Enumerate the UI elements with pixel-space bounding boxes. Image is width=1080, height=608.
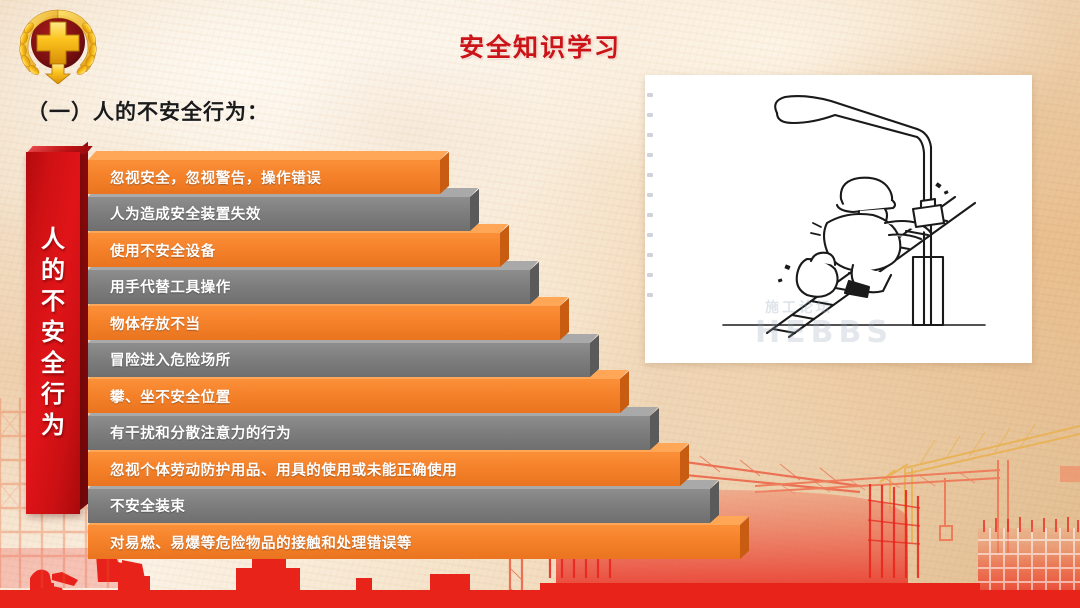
bar-face: 冒险进入危险场所 <box>88 343 590 377</box>
bar-face: 使用不安全设备 <box>88 233 500 267</box>
bar-label: 对易燃、易爆等危险物品的接触和处理错误等 <box>88 532 412 553</box>
bar-label: 有干扰和分散注意力的行为 <box>88 422 291 443</box>
bar-label: 攀、坐不安全位置 <box>88 386 231 407</box>
bar-label: 用手代替工具操作 <box>88 276 231 297</box>
staircase-bar[interactable]: 物体存放不当 <box>88 306 560 340</box>
page-title: 安全知识学习 <box>0 28 1080 64</box>
banner-char: 的 <box>41 259 65 283</box>
vertical-banner-text: 人 的 不 安 全 行 为 <box>26 152 80 514</box>
staircase-bar[interactable]: 使用不安全设备 <box>88 233 500 267</box>
bar-face: 物体存放不当 <box>88 306 560 340</box>
staircase-bar[interactable]: 对易燃、易爆等危险物品的接触和处理错误等 <box>88 525 740 559</box>
bar-face: 用手代替工具操作 <box>88 270 530 304</box>
bar-label: 冒险进入危险场所 <box>88 349 231 370</box>
bar-label: 人为造成安全装置失效 <box>88 203 261 224</box>
bar-label: 使用不安全设备 <box>88 240 216 261</box>
bar-face: 有干扰和分散注意力的行为 <box>88 416 650 450</box>
staircase-bar[interactable]: 攀、坐不安全位置 <box>88 379 620 413</box>
staircase-bar[interactable]: 人为造成安全装置失效 <box>88 197 470 231</box>
bar-label: 忽视安全，忽视警告，操作错误 <box>88 167 321 188</box>
slide-canvas: 安全知识学习 （一）人的不安全行为： 人 的 不 安 全 行 为 忽视安全，忽视… <box>0 0 1080 608</box>
staircase-bar[interactable]: 用手代替工具操作 <box>88 270 530 304</box>
bar-label: 忽视个体劳动防护用品、用具的使用或未能正确使用 <box>88 459 457 480</box>
staircase-bar[interactable]: 忽视个体劳动防护用品、用具的使用或未能正确使用 <box>88 452 680 486</box>
bar-face: 忽视个体劳动防护用品、用具的使用或未能正确使用 <box>88 452 680 486</box>
staircase-bar[interactable]: 冒险进入危险场所 <box>88 343 590 377</box>
banner-char: 人 <box>41 228 65 252</box>
banner-char: 为 <box>41 414 65 438</box>
staircase-bar[interactable]: 有干扰和分散注意力的行为 <box>88 416 650 450</box>
bar-side-bevel <box>740 517 749 559</box>
banner-char: 不 <box>41 290 65 314</box>
illustration-panel: 施工论坛 HEBBS <box>645 75 1032 363</box>
bar-face: 攀、坐不安全位置 <box>88 379 620 413</box>
bar-label: 物体存放不当 <box>88 313 201 334</box>
worker-on-ladder-at-lamp-post-drawing <box>645 75 1032 363</box>
vertical-banner: 人 的 不 安 全 行 为 <box>26 152 80 514</box>
bar-face: 对易燃、易爆等危险物品的接触和处理错误等 <box>88 525 740 559</box>
banner-side-bevel <box>80 142 88 510</box>
staircase-bar[interactable]: 不安全装束 <box>88 489 710 523</box>
bar-label: 不安全装束 <box>88 495 186 516</box>
bar-top-bevel <box>88 151 448 160</box>
bar-face: 忽视安全，忽视警告，操作错误 <box>88 160 440 194</box>
bar-face: 人为造成安全装置失效 <box>88 197 470 231</box>
staircase-bar[interactable]: 忽视安全，忽视警告，操作错误 <box>88 160 440 194</box>
bar-face: 不安全装束 <box>88 489 710 523</box>
banner-char: 安 <box>41 321 65 345</box>
section-subtitle: （一）人的不安全行为： <box>27 96 269 126</box>
banner-char: 行 <box>41 383 65 407</box>
banner-char: 全 <box>41 352 65 376</box>
